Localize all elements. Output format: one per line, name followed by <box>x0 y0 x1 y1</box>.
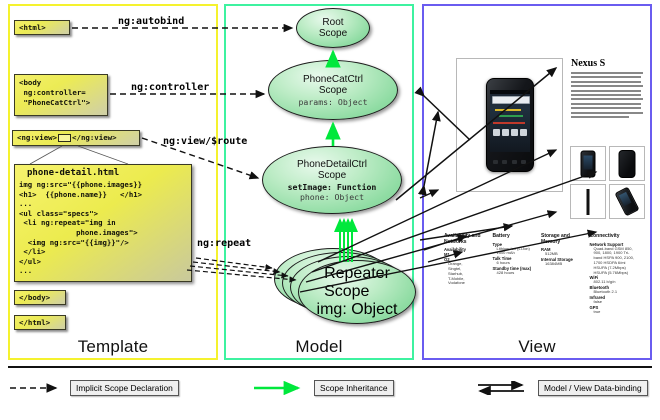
scope-phonedetailctrl: PhoneDetailCtrl Scope setImage: Function… <box>262 146 402 214</box>
description-text-line <box>571 103 641 105</box>
repeater-scope-front: Repeater Scope img: Object <box>298 260 416 324</box>
code-ngview-element: <ng:view> </ng:view> <box>12 130 140 146</box>
scope-catctrl-line1: PhoneCatCtrl <box>303 74 363 85</box>
spec-value: 16384MB <box>541 262 586 267</box>
spec-column-heading: Availability and Networks <box>444 234 489 245</box>
ngview-open-tag: <ng:view> <box>17 133 57 143</box>
connector-label-autobind: ng:autobind <box>118 16 184 27</box>
legend-divider <box>8 366 652 368</box>
code-html-open: <html> <box>14 20 70 35</box>
connector-label-controller: ng:controller <box>131 82 209 93</box>
connector-label-ngview-route: ng:view/$route <box>163 136 247 147</box>
diagram-canvas: <html> <body ng:controller= "PhoneCatCtr… <box>0 0 660 420</box>
app-icon-2 <box>502 129 509 136</box>
description-text-line <box>571 98 643 100</box>
legend-item-data-binding: Model / View Data-binding <box>476 380 648 396</box>
view-phone-title: Nexus S <box>571 58 643 69</box>
phone-key-2 <box>502 160 507 164</box>
spec-column-heading: Connectivity <box>590 234 635 240</box>
column-label-model: Model <box>224 336 414 360</box>
phone-hardware-keys <box>491 157 529 166</box>
view-rendered-page: Nexus S Availability and NetworksAvailab… <box>428 10 646 332</box>
description-text-line <box>571 116 629 118</box>
legend-label-implicit-scope: Implicit Scope Declaration <box>70 380 179 396</box>
ngview-close-tag: </ng:view> <box>72 133 117 143</box>
description-text-line <box>571 94 641 96</box>
description-text-line <box>571 112 643 114</box>
phone-thumb-side-icon <box>587 189 590 215</box>
thumbnail-3[interactable] <box>570 184 606 219</box>
thumbnail-4[interactable] <box>609 184 645 219</box>
spec-value: 428 hours <box>493 271 538 276</box>
scope-repeater-prop-img: img: Object <box>317 301 398 319</box>
scope-repeater-line2: Scope <box>324 283 369 300</box>
scope-phonedetailctrl-name: PhoneDetailCtrl Scope <box>297 159 367 182</box>
spec-column: BatteryTypeLithium Ion (Li-Ion)1500 mAhT… <box>493 234 538 315</box>
spec-value: true <box>590 310 635 315</box>
legend-green-arrow-icon <box>252 381 308 395</box>
description-text-line <box>571 90 641 92</box>
view-spec-table: Availability and NetworksAvailabilityM1O… <box>444 234 634 308</box>
app-icon-1 <box>493 129 500 136</box>
spec-column-heading: Battery <box>493 234 538 240</box>
phone-search-widget-icon <box>492 96 530 104</box>
phone-illustration-icon <box>486 78 534 172</box>
phone-key-3 <box>512 160 517 164</box>
view-thumbnail-grid <box>570 146 646 222</box>
view-phone-description <box>571 72 643 120</box>
phone-screen-line-2 <box>499 115 523 117</box>
detail-note-code: img ng:src="{{phone.images}} <h1> {{phon… <box>15 180 191 276</box>
scope-repeater-line1: Repeater <box>324 265 390 282</box>
detail-note-filename: phone-detail.html <box>15 165 191 180</box>
legend-dashed-arrow-icon <box>8 381 64 395</box>
scope-catctrl-prop-params: params: Object <box>298 97 367 107</box>
scope-repeater-stack: Repeater Scope img: Object <box>274 236 416 328</box>
thumbnail-1[interactable] <box>570 146 606 181</box>
column-label-template: Template <box>8 336 218 360</box>
phone-key-4 <box>521 160 526 164</box>
scope-root-line2: Scope <box>319 28 347 39</box>
phone-key-1 <box>493 160 498 164</box>
template-detail-note: phone-detail.html img ng:src="{{phone.im… <box>14 164 192 282</box>
code-body-close: </body> <box>14 290 66 305</box>
scope-detail-prop-setimage: setImage: Function <box>288 182 377 192</box>
legend-label-data-binding: Model / View Data-binding <box>538 380 648 396</box>
scope-root-line1: Root <box>322 17 343 28</box>
scope-root-name: Root Scope <box>319 17 347 40</box>
phone-thumb-back-icon <box>619 150 636 178</box>
legend-double-arrow-icon <box>476 381 532 395</box>
scope-root: Root Scope <box>296 8 370 48</box>
legend-item-implicit-scope: Implicit Scope Declaration <box>8 380 179 396</box>
scope-detail-prop-phone: phone: Object <box>300 192 364 202</box>
spec-column: Availability and NetworksAvailabilityM1O… <box>444 234 489 315</box>
description-text-line <box>571 76 641 78</box>
phone-screen-line-3 <box>493 122 525 124</box>
phone-app-icons <box>493 129 527 139</box>
legend-label-scope-inheritance: Scope Inheritance <box>314 380 394 396</box>
scope-detail-line1: PhoneDetailCtrl <box>297 159 367 170</box>
description-text-line <box>571 107 641 109</box>
scope-catctrl-line2: Scope <box>319 85 347 96</box>
connector-label-ngrepeat: ng:repeat <box>197 238 251 249</box>
column-label-view: View <box>422 336 652 360</box>
scope-repeater-name: Repeater Scope <box>324 265 390 301</box>
spec-value: Vodafone <box>444 281 489 286</box>
description-text-line <box>571 72 643 74</box>
phone-statusbar <box>490 90 530 94</box>
app-icon-3 <box>511 129 518 136</box>
spec-column: Storage and MemoryRAM512MBInternal Stora… <box>541 234 586 315</box>
scope-detail-line2: Scope <box>318 170 346 181</box>
code-html-close: </html> <box>14 315 66 330</box>
phone-hero-image <box>456 58 563 192</box>
description-text-line <box>571 85 643 87</box>
phone-screen <box>490 90 530 152</box>
legend-item-scope-inheritance: Scope Inheritance <box>252 380 394 396</box>
phone-screen-line-1 <box>495 109 521 111</box>
spec-column-heading: Storage and Memory <box>541 234 586 245</box>
app-icon-4 <box>520 129 527 136</box>
phone-thumb-front-icon <box>581 150 596 177</box>
code-body-open: <body ng:controller= "PhoneCatCtrl"> <box>14 74 108 116</box>
thumbnail-2[interactable] <box>609 146 645 181</box>
scope-phonecatctrl: PhoneCatCtrl Scope params: Object <box>268 60 398 120</box>
phone-thumb-angled-icon <box>614 186 639 216</box>
description-text-line <box>571 81 641 83</box>
spec-column: ConnectivityNetwork SupportQuad-band GSM… <box>590 234 635 315</box>
ngview-placeholder-icon <box>58 134 71 142</box>
scope-phonecatctrl-name: PhoneCatCtrl Scope <box>303 74 363 97</box>
